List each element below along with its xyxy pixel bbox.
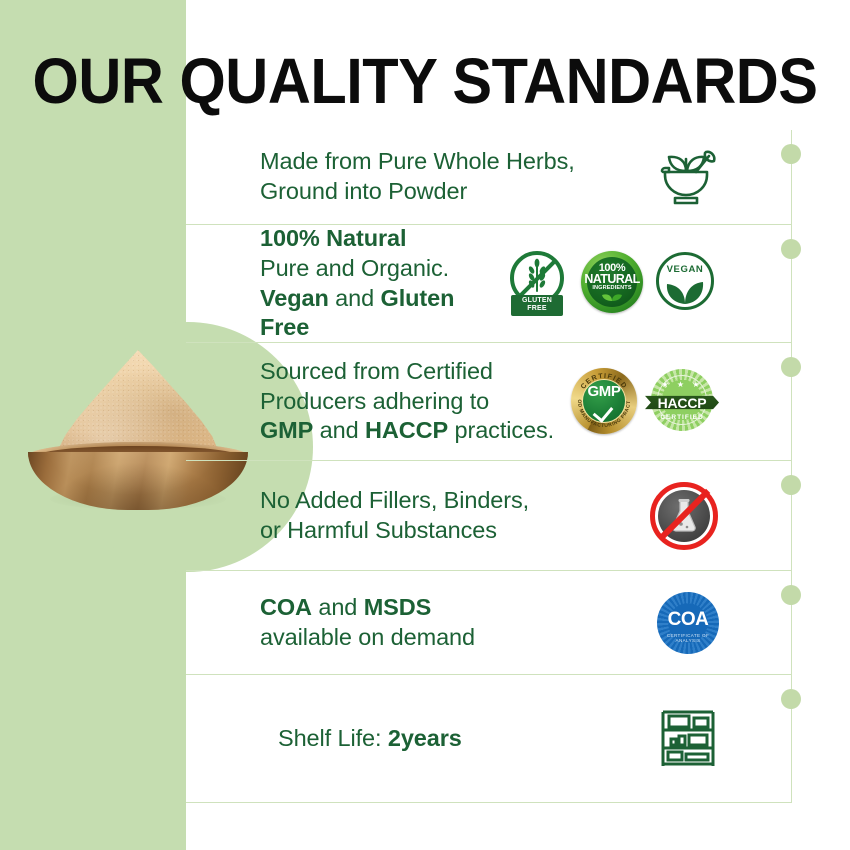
list-item-natural-organic: 100% Natural Pure and Organic. Vegan and… [186, 225, 792, 343]
gluten-free-label-line1: GLUTEN [522, 297, 552, 304]
coa-badge: COA CERTIFICATE OF ANALYSIS [657, 592, 719, 654]
gluten-free-badge: GLUTEN FREE [507, 251, 573, 317]
coa-label: COA [657, 609, 719, 631]
gluten-free-label-line2: FREE [527, 305, 546, 312]
row-accent-dot [781, 144, 801, 164]
natural-badge-line2: NATURAL [584, 273, 639, 285]
shelf-rack-icon [657, 708, 719, 770]
row-icons [649, 481, 719, 551]
row-text: 100% Natural Pure and Organic. Vegan and… [260, 224, 497, 343]
row-line-2: or Harmful Substances [260, 516, 639, 546]
row-accent-dot [781, 689, 801, 709]
row-line-3-haccp: HACCP [365, 417, 448, 443]
row-text: Sourced from Certified Producers adherin… [260, 357, 559, 447]
infographic-canvas: OUR QUALITY STANDARDS Made from Pure Who… [0, 0, 850, 850]
row-icons: GLUTEN FREE 100% NATURAL INGREDIENTS [507, 251, 719, 317]
gmp-label: GMP [582, 383, 626, 400]
haccp-label: HACCP [658, 395, 707, 411]
gluten-free-label: GLUTEN FREE [511, 295, 563, 316]
stars-icon: ★ ★ ★ [657, 380, 707, 389]
coa-subtitle: CERTIFICATE OF ANALYSIS [657, 633, 719, 643]
row-icons [653, 146, 719, 208]
row-accent-dot [781, 239, 801, 259]
natural-badge-leaves-icon [602, 293, 622, 301]
row-accent-dot [781, 475, 801, 495]
row-text: COA and MSDS available on demand [260, 593, 647, 653]
row-line-3-vegan: Vegan [260, 285, 329, 311]
mortar-pestle-icon [653, 146, 719, 208]
list-item-certified-producers: Sourced from Certified Producers adherin… [186, 343, 792, 461]
row-line-1-and: and [312, 594, 364, 620]
row-accent-dot [781, 585, 801, 605]
row-icons [657, 708, 719, 770]
row-line-1: Made from Pure Whole Herbs, [260, 147, 643, 177]
row-line-3-and: and [329, 285, 381, 311]
row-line-2: Ground into Powder [260, 177, 643, 207]
row-line-1-value: 2years [388, 725, 462, 751]
natural-badge-line3: INGREDIENTS [592, 285, 631, 292]
row-text: No Added Fillers, Binders, or Harmful Su… [260, 486, 639, 546]
haccp-certified-badge: ★ ★ ★ HACCP CERTIFIED [645, 367, 719, 437]
row-line-3-gmp: GMP [260, 417, 313, 443]
gmp-certified-badge: CERTIFIED GOOD MANUFACTURING PRACTICE GM… [569, 367, 639, 437]
row-line-1-label: Shelf Life: [278, 725, 388, 751]
row-line-2: Producers adhering to [260, 387, 559, 417]
row-line-1-msds: MSDS [364, 594, 432, 620]
row-line-1: 100% Natural [260, 225, 406, 251]
list-item-no-added-fillers: No Added Fillers, Binders, or Harmful Su… [186, 461, 792, 571]
natural-badge-line1: 100% [599, 263, 626, 273]
wheat-icon [525, 258, 549, 299]
vegan-badge: VEGAN [653, 251, 719, 317]
row-line-3-and: and [313, 417, 365, 443]
no-chemicals-icon [649, 481, 719, 551]
standards-list: Made from Pure Whole Herbs, Ground into … [186, 130, 850, 803]
row-line-3-tail: practices. [448, 417, 554, 443]
row-line-2: available on demand [260, 623, 647, 653]
100-natural-ingredients-badge: 100% NATURAL INGREDIENTS [579, 251, 647, 317]
row-accent-dot [781, 357, 801, 377]
natural-badge-inner: 100% NATURAL INGREDIENTS [587, 257, 637, 307]
row-icons: COA CERTIFICATE OF ANALYSIS [657, 592, 719, 654]
list-item-pure-whole-herbs: Made from Pure Whole Herbs, Ground into … [186, 130, 792, 225]
row-line-2: Pure and Organic. [260, 254, 497, 284]
haccp-subtitle: CERTIFIED [657, 414, 707, 421]
row-text: Made from Pure Whole Herbs, Ground into … [260, 147, 643, 207]
row-line-1-coa: COA [260, 594, 312, 620]
row-line-1: Sourced from Certified [260, 357, 559, 387]
list-item-coa-msds: COA and MSDS available on demand COA CER… [186, 571, 792, 675]
page-title: OUR QUALITY STANDARDS [30, 44, 821, 118]
list-item-shelf-life: Shelf Life: 2years [186, 675, 792, 803]
vegan-leaves-icon [666, 278, 704, 304]
row-text: Shelf Life: 2years [260, 724, 647, 754]
vegan-badge-label: VEGAN [656, 264, 714, 275]
row-line-1: No Added Fillers, Binders, [260, 486, 639, 516]
row-icons: CERTIFIED GOOD MANUFACTURING PRACTICE GM… [569, 367, 719, 437]
